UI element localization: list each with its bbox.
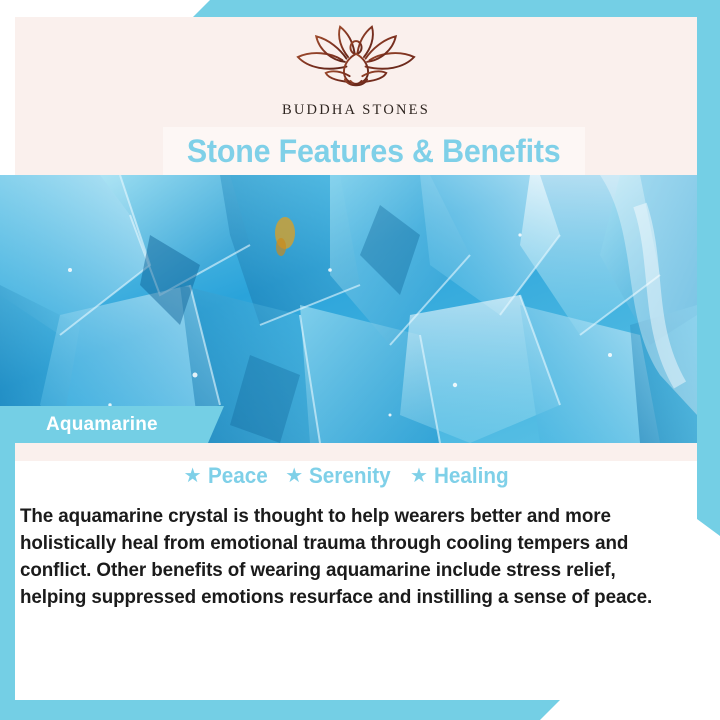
crystal-photo [0,175,697,443]
benefit-item-serenity: ★ Serenity [285,463,396,489]
header-section: BUDDHA STONES Stone Features & Benefits [15,17,697,175]
benefit-label-peace: Peace [208,463,268,489]
benefit-label-serenity: Serenity [309,463,391,489]
benefit-item-peace: ★ Peace [184,463,272,489]
benefit-label-healing: Healing [434,463,509,489]
stone-name-label: Aquamarine [0,414,158,436]
star-icon: ★ [184,466,202,486]
benefit-item-healing: ★ Healing [410,463,513,489]
star-icon: ★ [285,466,303,486]
infographic-card: BUDDHA STONES Stone Features & Benefits [0,0,720,720]
benefits-row: ★ Peace ★ Serenity ★ Healing [0,463,697,489]
divider-strip [15,443,697,461]
page-title-plate: Stone Features & Benefits [163,127,585,175]
page-title: Stone Features & Benefits [187,133,561,170]
top-accent-band [193,0,720,17]
description-text: The aquamarine crystal is thought to hel… [20,503,671,611]
brand-name: BUDDHA STONES [282,102,430,119]
lotus-meditation-icon [276,22,436,100]
right-accent-band [697,0,720,536]
bottom-accent-band [0,700,560,720]
star-icon: ★ [410,466,428,486]
stone-name-tag: Aquamarine [0,406,224,443]
brand-logo: BUDDHA STONES [15,22,697,119]
crystal-photo-graphic [0,175,697,443]
